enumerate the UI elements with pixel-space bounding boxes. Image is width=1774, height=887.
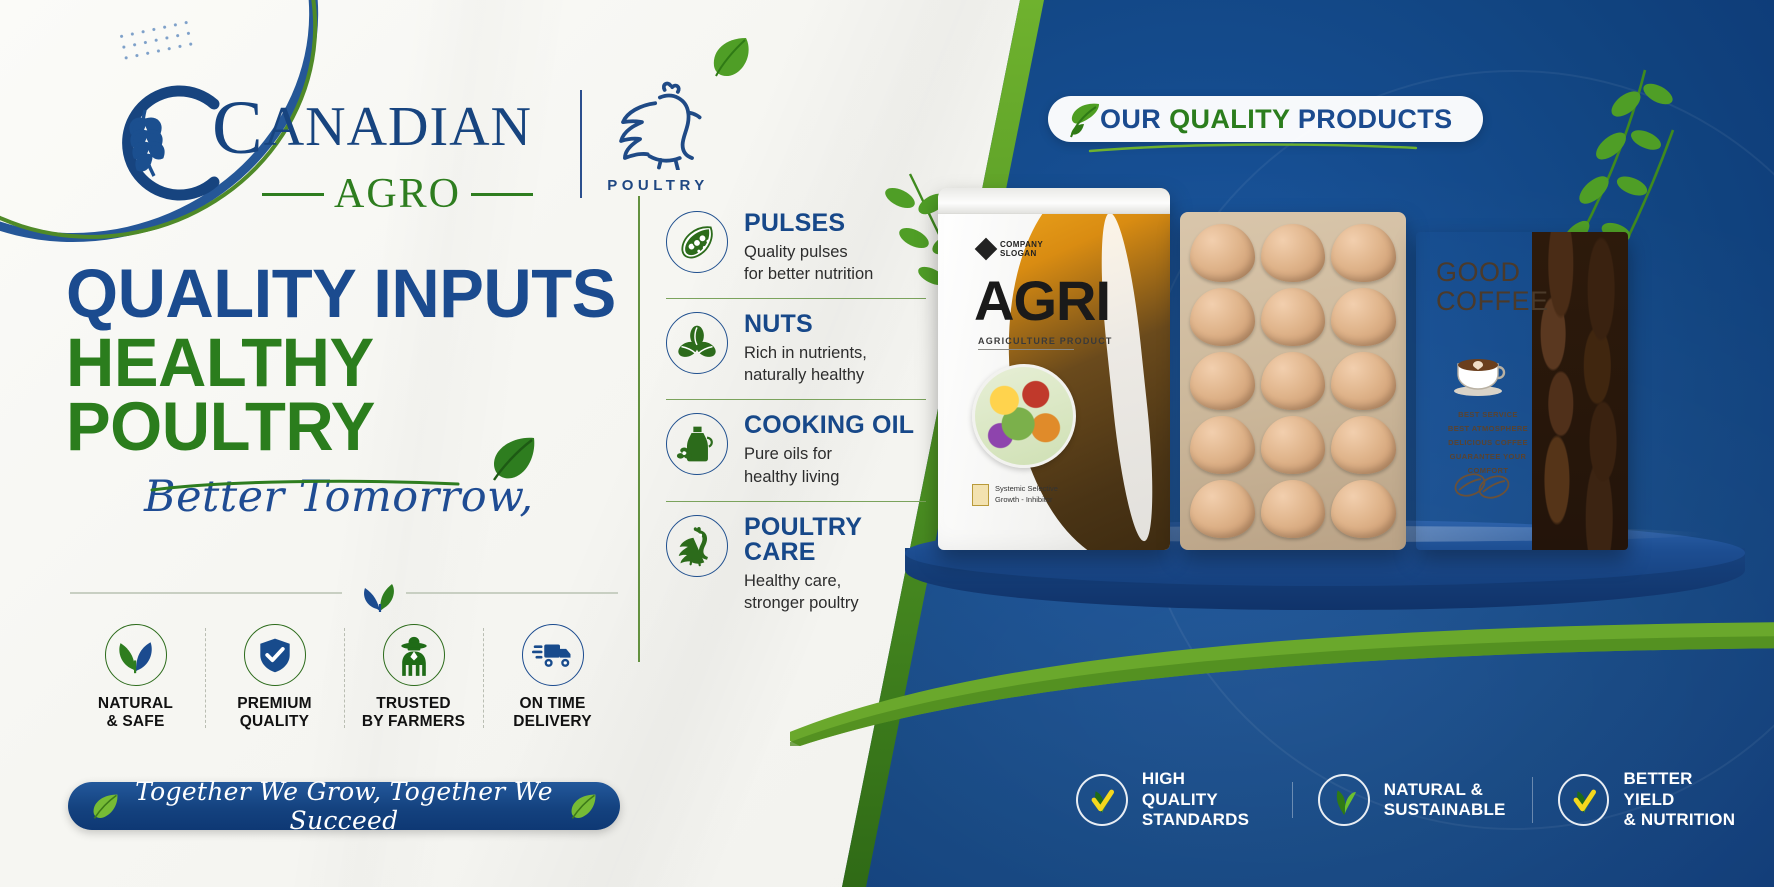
- desc-line1: Quality pulses: [744, 243, 848, 261]
- leaf-icon: [484, 432, 538, 484]
- quality-products-text: OUR QUALITY PRODUCTS: [1100, 104, 1453, 135]
- egg: [1190, 224, 1255, 282]
- qp-word-1: OUR: [1100, 104, 1161, 134]
- trust-badge-line2: STANDARDS: [1142, 810, 1249, 829]
- feature-label: NATURAL & SAFE: [66, 695, 205, 732]
- qp-word-2: QUALITY: [1169, 104, 1290, 134]
- divider-line-left: [70, 592, 342, 594]
- list-item-title: POULTRY CARE: [744, 515, 926, 565]
- desc-line2: stronger poultry: [744, 594, 859, 612]
- list-item-title: PULSES: [744, 211, 873, 236]
- list-item-desc: Healthy care, stronger poultry: [744, 570, 926, 614]
- script-underline: [150, 479, 460, 495]
- tagline-text: Together We Grow, Together We Succeed: [132, 777, 556, 835]
- leaf-icon: [116, 635, 156, 675]
- leaf-icon: [90, 791, 120, 821]
- trust-badge-line2: SUSTAINABLE: [1384, 800, 1506, 819]
- trust-badge-text: NATURAL & SUSTAINABLE: [1384, 780, 1506, 821]
- feature-item[interactable]: PREMIUM QUALITY: [205, 624, 344, 734]
- desc-line2: naturally healthy: [744, 366, 864, 384]
- pouch-produce-photo: [972, 364, 1076, 468]
- feature-label-line1: TRUSTED: [376, 695, 451, 712]
- pouch-slogan: SLOGAN: [1000, 249, 1037, 258]
- pouch-seal: [938, 188, 1170, 214]
- oil-bottle-icon: [676, 423, 718, 465]
- list-item-text: POULTRY CARE Healthy care, stronger poul…: [744, 515, 926, 614]
- coffee-title-line2: COFFEE: [1436, 286, 1549, 316]
- quality-products-badge: OUR QUALITY PRODUCTS: [1048, 96, 1483, 142]
- coffee-bean-icon: [1450, 468, 1514, 502]
- coffee-bullets: BEST SERVICE BEST ATMOSPHERE DELICIOUS C…: [1432, 408, 1544, 477]
- feature-label: PREMIUM QUALITY: [205, 695, 344, 732]
- headline-line-1: QUALITY INPUTS: [66, 262, 648, 325]
- delivery-truck-icon: [532, 637, 574, 673]
- feature-label-line2: BY FARMERS: [362, 713, 465, 730]
- feature-label-line1: NATURAL: [98, 695, 173, 712]
- check-leaf-icon: [1086, 784, 1118, 816]
- trust-badge-icon-ring: [1558, 774, 1610, 826]
- pouch-company-logo: COMPANY SLOGAN: [978, 240, 1043, 258]
- feature-label: TRUSTED BY FARMERS: [344, 695, 483, 732]
- tagline-pill[interactable]: Together We Grow, Together We Succeed: [68, 782, 620, 830]
- egg: [1261, 480, 1326, 538]
- feature-icon-ring: [105, 624, 167, 686]
- coffee-bullet-2: BEST ATMOSPHERE: [1448, 424, 1528, 433]
- rule-right: [471, 193, 533, 196]
- falling-leaf-icon: [700, 30, 760, 110]
- feature-label-line2: & SAFE: [106, 713, 164, 730]
- poultry-label: POULTRY: [598, 177, 718, 194]
- egg: [1331, 416, 1396, 474]
- brand-name-primary: CANADIAN: [212, 90, 533, 166]
- list-item[interactable]: COOKING OIL Pure oils for healthy living: [666, 399, 926, 500]
- egg: [1331, 352, 1396, 410]
- list-item-text: PULSES Quality pulses for better nutriti…: [744, 211, 873, 285]
- egg: [1190, 480, 1255, 538]
- section-divider: [70, 580, 618, 606]
- list-item-text: NUTS Rich in nutrients, naturally health…: [744, 312, 867, 386]
- feature-item[interactable]: NATURAL & SAFE: [66, 624, 205, 734]
- logo-diamond-icon: [975, 238, 998, 261]
- egg-tray[interactable]: [1180, 212, 1406, 550]
- nuts-icon: [676, 322, 718, 364]
- pouch-company-text: COMPANY SLOGAN: [1000, 240, 1043, 258]
- shield-check-icon: [256, 636, 294, 674]
- chicken-icon: [606, 78, 710, 170]
- hazard-label-icon: [972, 484, 989, 506]
- product-shots: COMPANY SLOGAN AGRI AGRICULTURE PRODUCT …: [930, 160, 1690, 580]
- list-item-title: NUTS: [744, 312, 867, 337]
- leaf-sprout-icon: [360, 578, 400, 612]
- leaf-sprig-icon: [1062, 100, 1102, 140]
- desc-line2: healthy living: [744, 468, 839, 486]
- feature-label-line1: ON TIME: [520, 695, 586, 712]
- egg: [1261, 352, 1326, 410]
- brand-wordmark: CANADIAN AGRO: [212, 90, 533, 218]
- trust-badge-icon-ring: [1318, 774, 1370, 826]
- trust-badge-text: BETTER YIELD & NUTRITION: [1623, 769, 1748, 830]
- feature-badges: NATURAL & SAFE PREMIUM QUALITY: [66, 624, 622, 734]
- pouch-company: COMPANY: [1000, 240, 1043, 249]
- trust-badge[interactable]: HIGH QUALITY STANDARDS: [1050, 769, 1292, 830]
- egg: [1190, 352, 1255, 410]
- agri-product-pouch[interactable]: COMPANY SLOGAN AGRI AGRICULTURE PRODUCT …: [938, 188, 1170, 550]
- list-item-desc: Rich in nutrients, naturally healthy: [744, 342, 867, 386]
- brand-logo[interactable]: CANADIAN AGRO POULTRY: [100, 78, 620, 218]
- pouch-subtitle: AGRICULTURE PRODUCT: [978, 336, 1113, 350]
- list-item-icon-ring: [666, 515, 728, 577]
- egg: [1261, 224, 1326, 282]
- egg: [1331, 480, 1396, 538]
- feature-label-line1: PREMIUM: [237, 695, 312, 712]
- trust-badge[interactable]: BETTER YIELD & NUTRITION: [1532, 769, 1774, 830]
- rule-left: [262, 193, 324, 196]
- list-item-icon-ring: [666, 413, 728, 475]
- coffee-title-line1: GOOD: [1436, 257, 1521, 287]
- list-item-desc: Pure oils for healthy living: [744, 443, 914, 487]
- list-item-title: COOKING OIL: [744, 413, 914, 438]
- desc-line1: Rich in nutrients,: [744, 344, 867, 362]
- desc-line2: for better nutrition: [744, 265, 873, 283]
- trust-badge-line1: NATURAL &: [1384, 780, 1483, 799]
- hen-icon: [676, 525, 718, 567]
- pouch-footer-line2: Growth - Inhibitor: [995, 495, 1053, 504]
- middle-vertical-rule: [638, 196, 640, 662]
- leaf-icon: [1328, 784, 1360, 816]
- list-item-icon-ring: [666, 312, 728, 374]
- desc-line1: Pure oils for: [744, 445, 832, 463]
- brand-initial: C: [212, 86, 264, 170]
- coffee-bullet-1: BEST SERVICE: [1458, 410, 1518, 419]
- coffee-cup-icon: [1450, 344, 1512, 400]
- badge-underline: [1088, 142, 1418, 154]
- egg: [1331, 224, 1396, 282]
- trust-badge-text: HIGH QUALITY STANDARDS: [1142, 769, 1266, 830]
- list-item-icon-ring: [666, 211, 728, 273]
- pouch-footer-text: Systemic Selective Growth - Inhibitor: [995, 484, 1058, 505]
- headline-line-2: HEALTHY POULTRY: [66, 331, 648, 458]
- brand-name-rest: ANADIAN: [264, 96, 532, 158]
- farmer-icon: [394, 634, 434, 676]
- wheat-circle-icon: [110, 84, 228, 202]
- trust-badge[interactable]: NATURAL & SUSTAINABLE: [1292, 774, 1532, 826]
- trust-badge-line1: BETTER YIELD: [1623, 769, 1692, 808]
- coffee-bullet-3: DELICIOUS COFFEE: [1448, 438, 1528, 447]
- trust-badge-line1: HIGH QUALITY: [1142, 769, 1218, 808]
- egg: [1331, 288, 1396, 346]
- trust-badge-icon-ring: [1076, 774, 1128, 826]
- coffee-bag[interactable]: GOOD COFFEE BEST SERVICE BEST ATMOSPHERE…: [1416, 232, 1628, 550]
- brand-name-secondary: AGRO: [334, 170, 461, 218]
- feature-label-line2: DELIVERY: [513, 713, 592, 730]
- trust-badge-line2: & NUTRITION: [1623, 810, 1735, 829]
- pouch-title: AGRI: [974, 268, 1110, 333]
- pouch-footer: Systemic Selective Growth - Inhibitor: [972, 484, 1058, 506]
- feature-icon-ring: [244, 624, 306, 686]
- pouch-footer-line1: Systemic Selective: [995, 484, 1058, 493]
- egg: [1190, 288, 1255, 346]
- feature-label-line2: QUALITY: [240, 713, 309, 730]
- feature-label: ON TIME DELIVERY: [483, 695, 622, 732]
- leaf-icon: [568, 791, 598, 821]
- feature-icon-ring: [522, 624, 584, 686]
- egg: [1261, 416, 1326, 474]
- egg: [1190, 416, 1255, 474]
- feature-item[interactable]: TRUSTED BY FARMERS: [344, 624, 483, 734]
- coffee-title: GOOD COFFEE: [1436, 258, 1549, 315]
- desc-line1: Healthy care,: [744, 572, 841, 590]
- check-leaf-icon: [1568, 784, 1600, 816]
- trust-badges: HIGH QUALITY STANDARDS NATURAL & SUSTAIN…: [1050, 760, 1774, 840]
- divider-line-right: [406, 592, 618, 594]
- list-item[interactable]: POULTRY CARE Healthy care, stronger poul…: [666, 501, 926, 627]
- list-item-desc: Quality pulses for better nutrition: [744, 241, 873, 285]
- list-item-text: COOKING OIL Pure oils for healthy living: [744, 413, 914, 487]
- egg: [1261, 288, 1326, 346]
- feature-icon-ring: [383, 624, 445, 686]
- promotional-banner: CANADIAN AGRO POULTRY: [0, 0, 1774, 887]
- logo-divider: [580, 90, 582, 198]
- pea-pod-icon: [676, 221, 718, 263]
- feature-item[interactable]: ON TIME DELIVERY: [483, 624, 622, 734]
